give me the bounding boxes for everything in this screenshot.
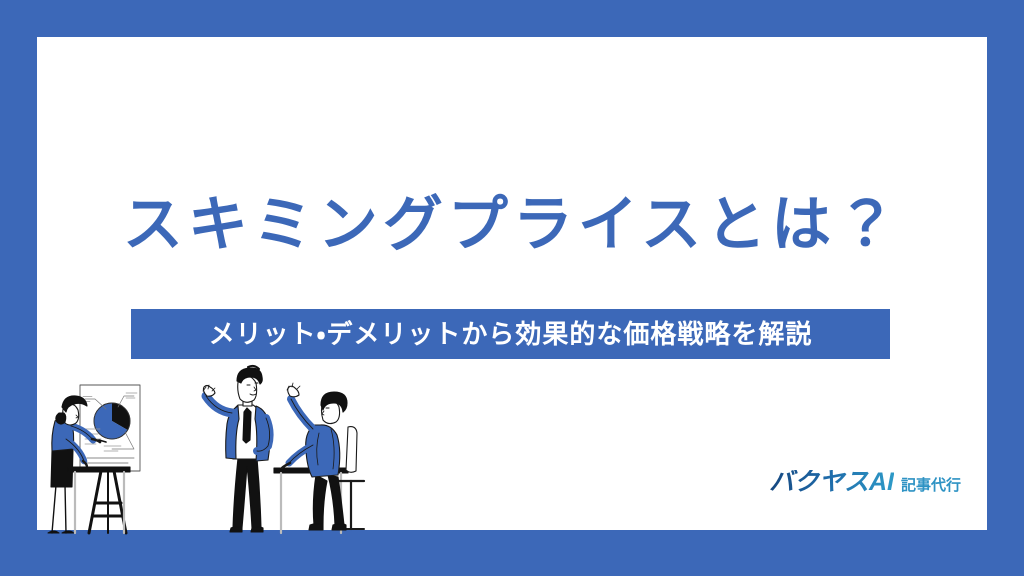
pie-chart (94, 403, 130, 439)
subtitle-band: メリット・デメリットから効果的な価格戦略を解説 (131, 309, 890, 359)
slide-root: スキミングプライスとは？ メリット・デメリットから効果的な価格戦略を解説 (0, 0, 1024, 576)
page-title: スキミングプライスとは？ (37, 195, 987, 255)
slide-canvas: スキミングプライスとは？ メリット・デメリットから効果的な価格戦略を解説 (37, 37, 987, 538)
brand-logo-name: バクヤスAI (769, 470, 894, 495)
brand-logo: バクヤスAI 記事代行 (769, 470, 961, 495)
brand-logo-service: 記事代行 (901, 478, 961, 493)
figure-man-presenting (203, 366, 270, 532)
business-presentation-illustration (42, 363, 402, 538)
figure-person-seated (282, 383, 364, 530)
flipchart-easel (80, 385, 140, 533)
subtitle-text: メリット・デメリットから効果的な価格戦略を解説 (209, 321, 813, 347)
